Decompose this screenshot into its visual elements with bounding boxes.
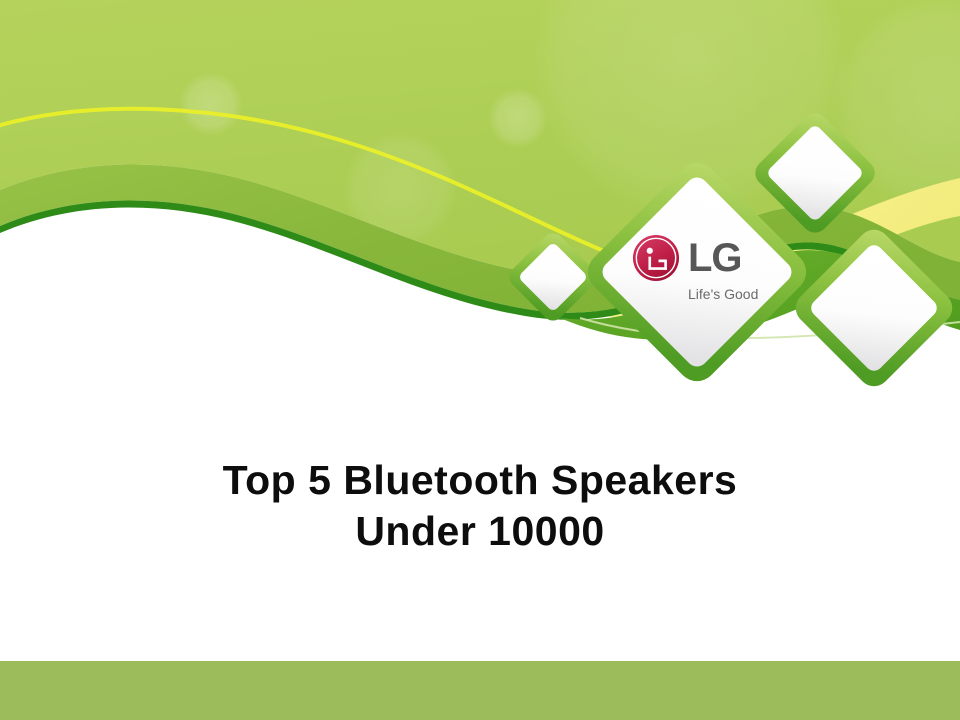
footer-green-bar <box>0 661 960 720</box>
presentation-slide: LG Life's Good Top 5 Bluetooth Speakers … <box>0 0 960 720</box>
halo-circle-small-mid <box>488 88 548 148</box>
lg-tagline: Life's Good <box>688 286 758 302</box>
slide-background <box>0 0 960 720</box>
slide-title: Top 5 Bluetooth Speakers Under 10000 <box>0 455 960 557</box>
lg-circle-mark-icon <box>632 234 680 282</box>
lg-logo-row: LG <box>632 234 742 282</box>
lg-wordmark: LG <box>688 238 742 278</box>
title-line-2: Under 10000 <box>0 506 960 557</box>
halo-circle-small-left <box>179 72 243 136</box>
lg-logo: LG Life's Good <box>632 234 776 312</box>
title-line-1: Top 5 Bluetooth Speakers <box>0 455 960 506</box>
